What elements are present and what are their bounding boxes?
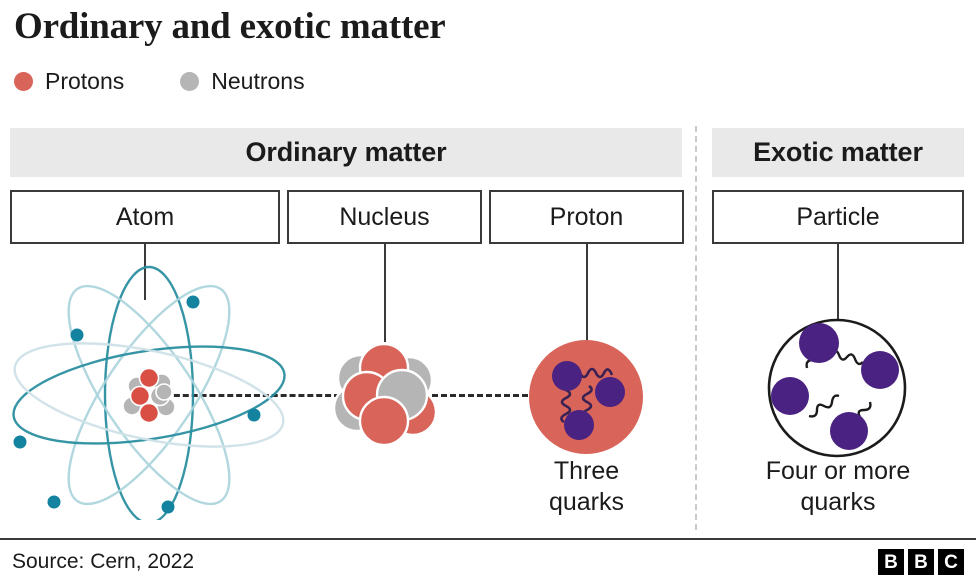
caption-three-quarks-line1: Three bbox=[489, 456, 684, 487]
infographic-page: Ordinary and exotic matter Protons Neutr… bbox=[0, 0, 976, 588]
caption-three-quarks: Three quarks bbox=[489, 456, 684, 517]
legend-label-protons: Protons bbox=[45, 70, 124, 93]
connector-line-particle bbox=[837, 244, 839, 322]
legend-label-neutrons: Neutrons bbox=[211, 70, 304, 93]
label-box-atom-text: Atom bbox=[116, 205, 174, 230]
legend-item-neutrons: Neutrons bbox=[180, 70, 304, 93]
section-header-exotic-matter: Exotic matter bbox=[712, 128, 964, 177]
proton-illustration bbox=[527, 338, 645, 456]
label-box-nucleus: Nucleus bbox=[287, 190, 482, 244]
dashed-connector-nucleus-to-proton bbox=[432, 394, 537, 397]
caption-three-quarks-line2: quarks bbox=[489, 487, 684, 518]
label-box-atom: Atom bbox=[10, 190, 280, 244]
exotic-particle-illustration bbox=[757, 318, 917, 458]
section-header-exotic-label: Exotic matter bbox=[753, 137, 923, 168]
section-header-ordinary-label: Ordinary matter bbox=[245, 137, 446, 168]
label-box-particle: Particle bbox=[712, 190, 964, 244]
bbc-logo-letter-1: B bbox=[878, 549, 904, 575]
label-box-nucleus-text: Nucleus bbox=[339, 205, 429, 230]
caption-four-quarks-line2: quarks bbox=[712, 487, 964, 518]
connector-line-proton bbox=[586, 244, 588, 342]
legend: Protons Neutrons bbox=[14, 70, 361, 93]
atom-nucleus-cluster bbox=[123, 369, 175, 423]
page-title: Ordinary and exotic matter bbox=[14, 6, 446, 49]
label-box-proton: Proton bbox=[489, 190, 684, 244]
atom-illustration bbox=[6, 262, 296, 520]
source-credit: Source: Cern, 2022 bbox=[12, 550, 194, 574]
bbc-logo-letter-2: B bbox=[908, 549, 934, 575]
connector-line-nucleus bbox=[384, 244, 386, 342]
legend-item-protons: Protons bbox=[14, 70, 124, 93]
neutron-dot-icon bbox=[180, 72, 199, 91]
section-divider bbox=[695, 126, 697, 530]
nucleus-illustration bbox=[327, 338, 443, 454]
bbc-logo-letter-3: C bbox=[938, 549, 964, 575]
caption-four-or-more-quarks: Four or more quarks bbox=[712, 456, 964, 517]
label-box-proton-text: Proton bbox=[550, 205, 624, 230]
footer-rule bbox=[0, 538, 976, 540]
label-box-particle-text: Particle bbox=[796, 205, 879, 230]
proton-dot-icon bbox=[14, 72, 33, 91]
caption-four-quarks-line1: Four or more bbox=[712, 456, 964, 487]
section-header-ordinary-matter: Ordinary matter bbox=[10, 128, 682, 177]
bbc-logo: B B C bbox=[878, 549, 964, 575]
